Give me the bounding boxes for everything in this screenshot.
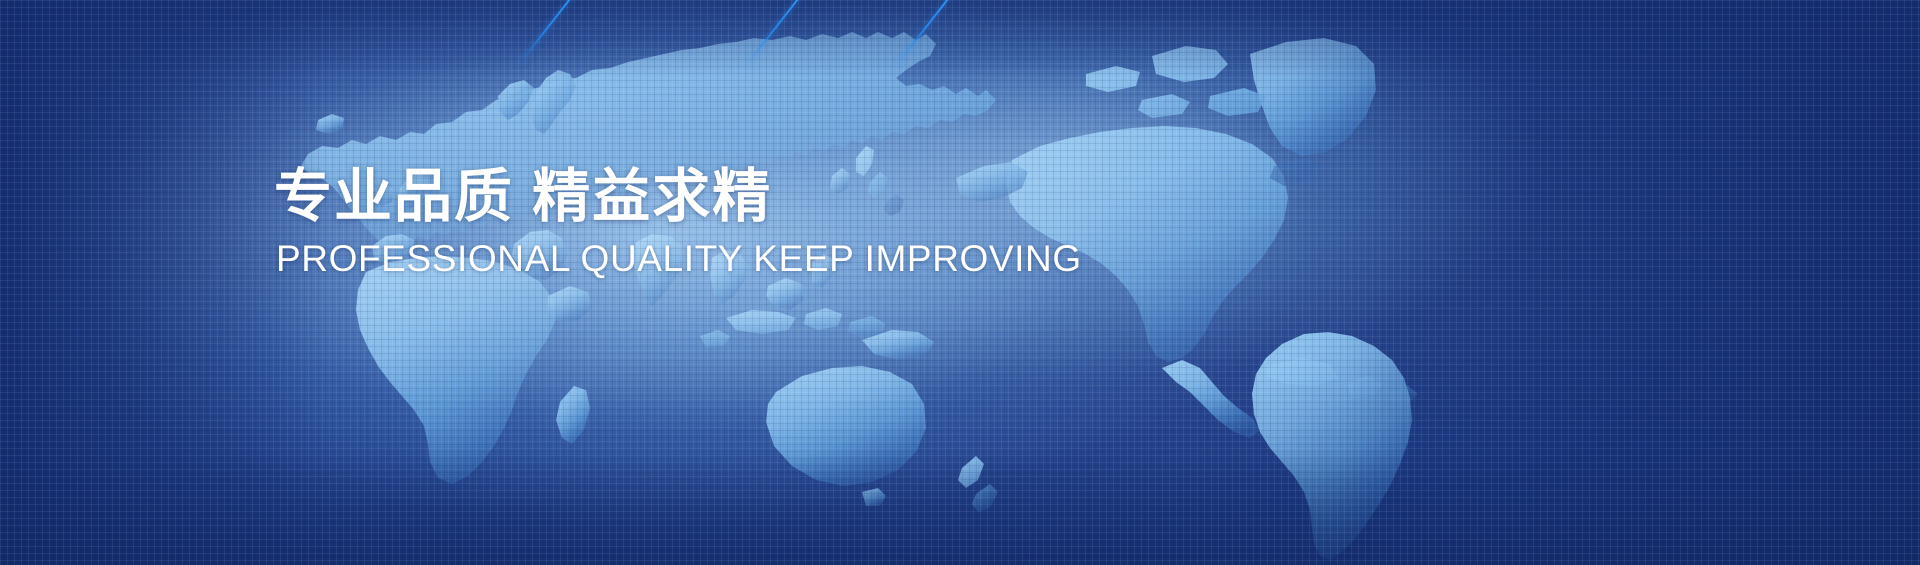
diagonal-streak-group	[0, 0, 1920, 565]
hero-banner: 专业品质 精益求精 PROFESSIONAL QUALITY KEEP IMPR…	[0, 0, 1920, 565]
banner-subheadline-english: PROFESSIONAL QUALITY KEEP IMPROVING	[276, 240, 1082, 277]
streak-3	[897, 0, 1031, 64]
streak-2	[747, 0, 885, 64]
banner-copy-block: 专业品质 精益求精 PROFESSIONAL QUALITY KEEP IMPR…	[274, 168, 1082, 277]
streak-1	[519, 0, 663, 64]
banner-headline-chinese: 专业品质 精益求精	[274, 168, 1082, 226]
